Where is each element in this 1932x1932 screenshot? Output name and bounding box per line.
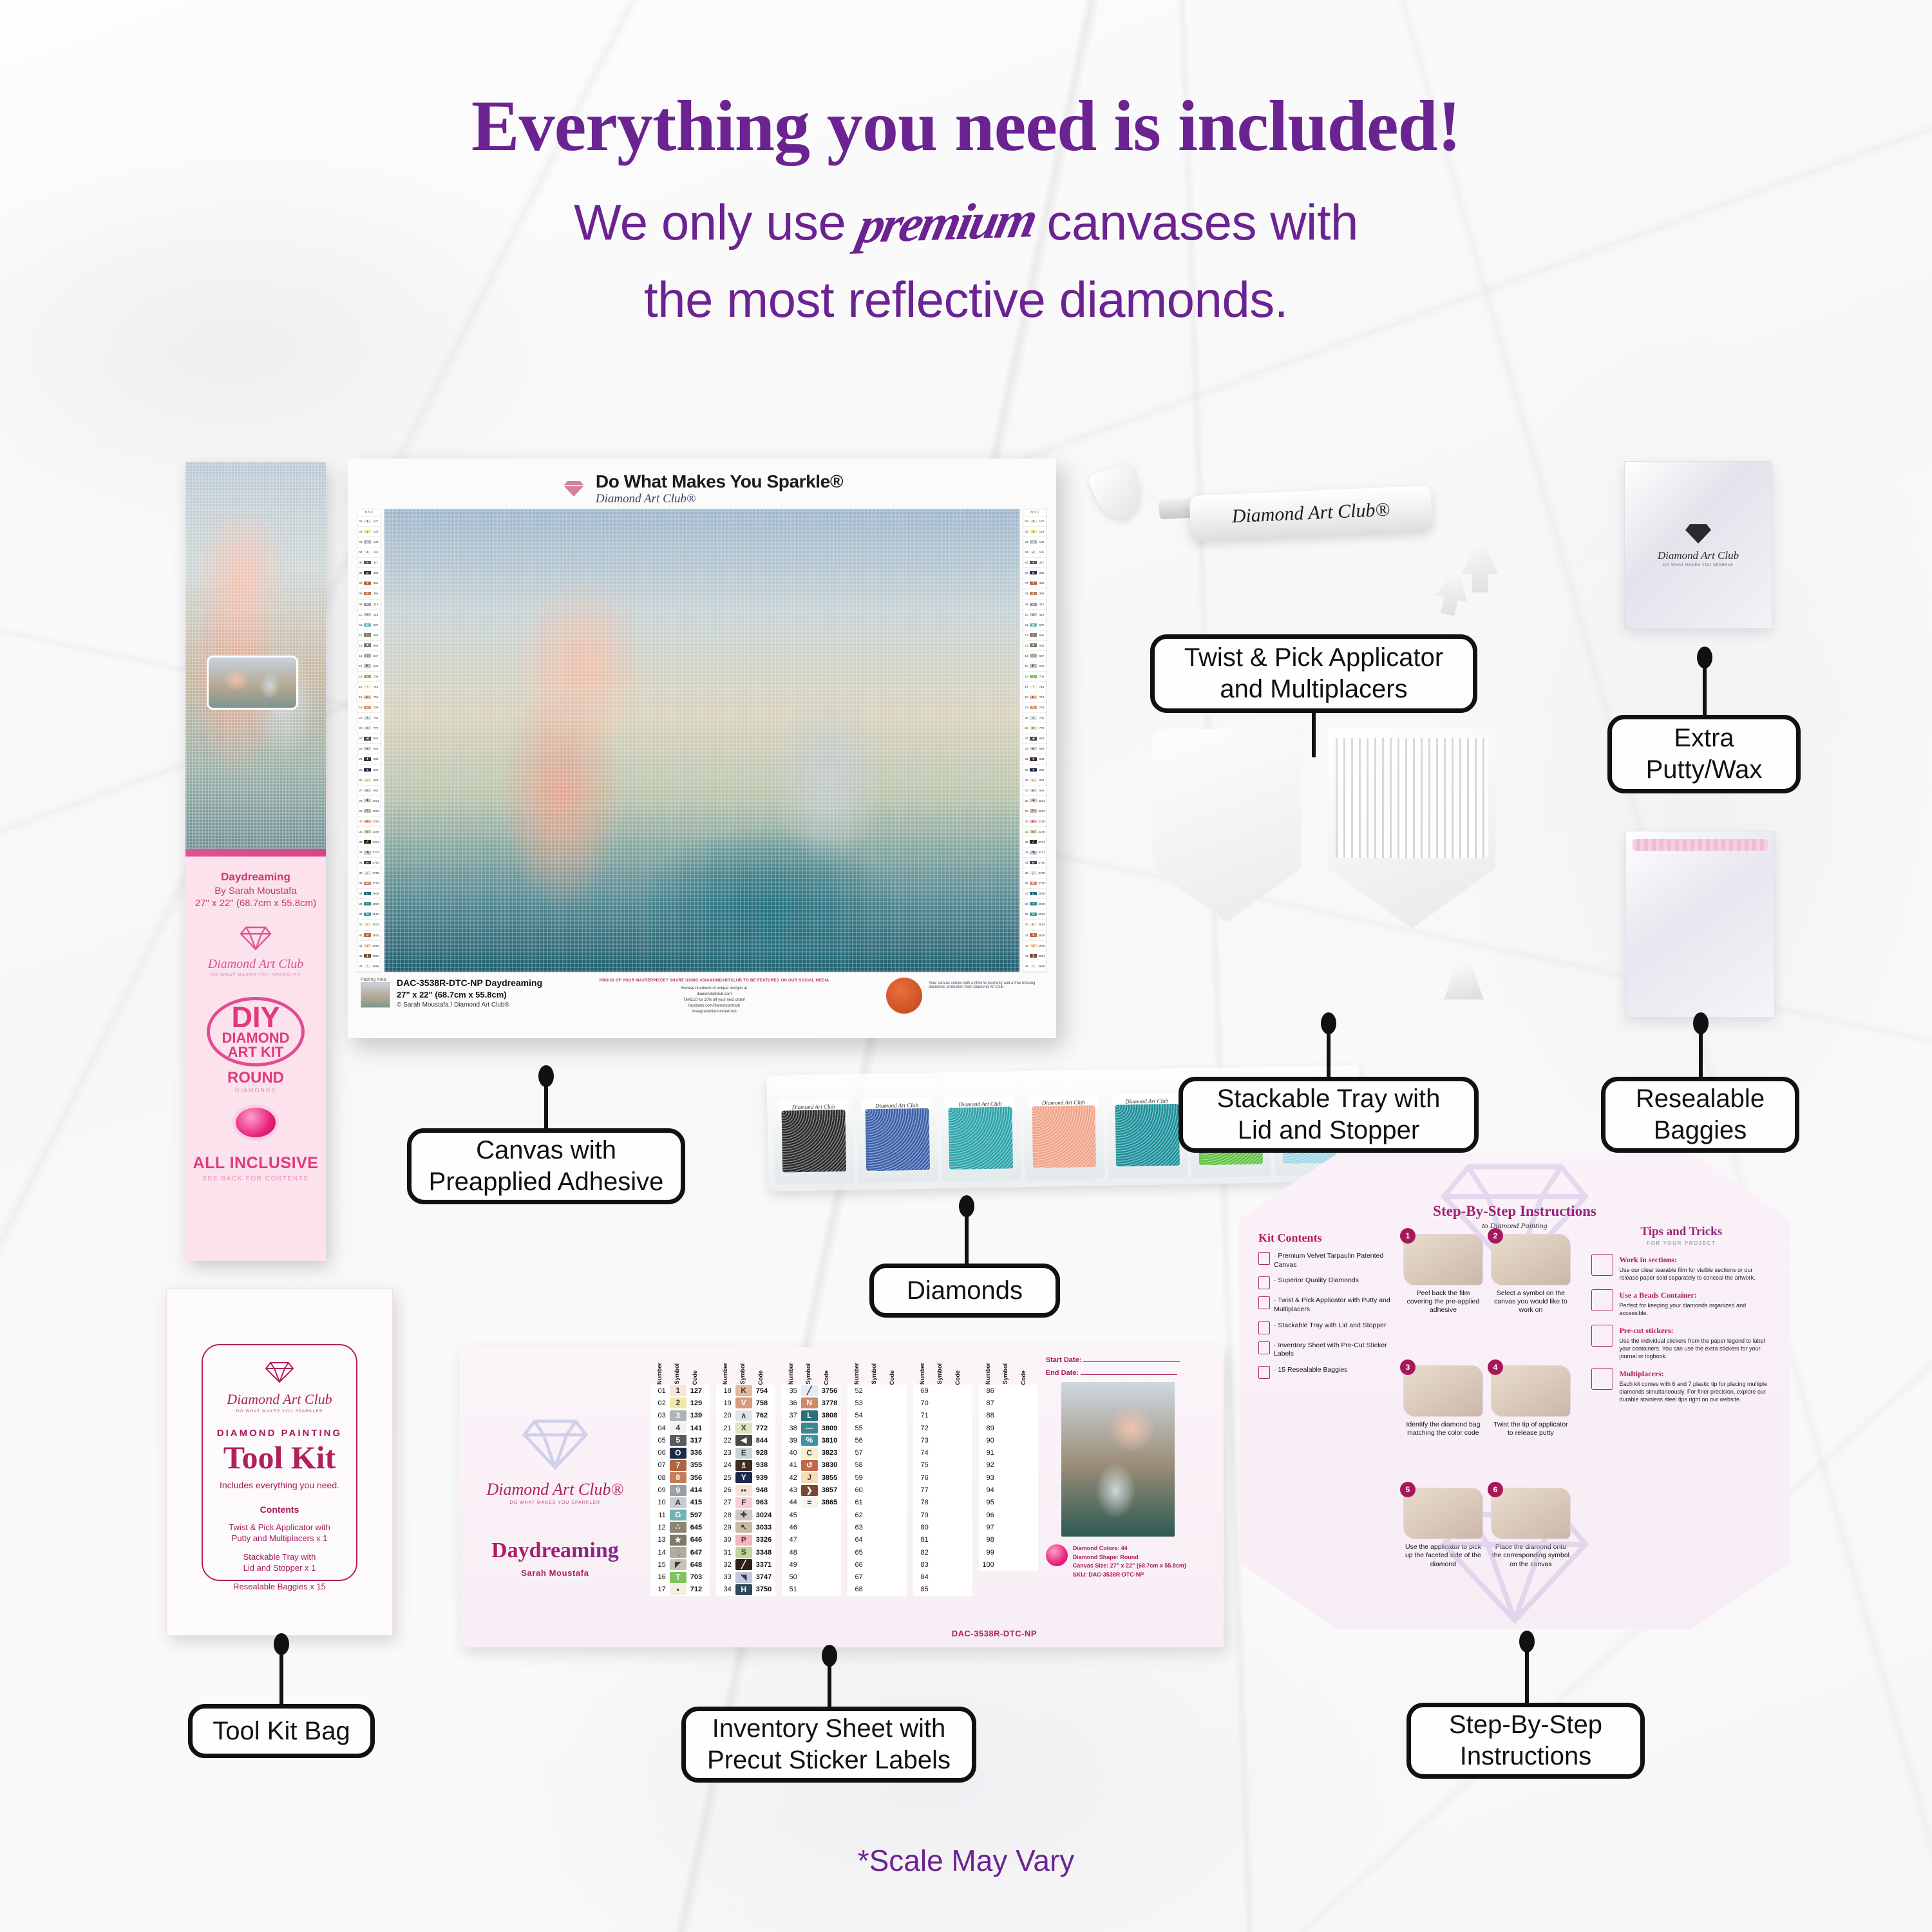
legend-row: 022129 (1023, 527, 1046, 537)
legend-row: 06O336 (1023, 568, 1046, 578)
instruction-step: 4Twist the tip of applicator to release … (1491, 1365, 1571, 1482)
legend-row: 39%3810 (357, 909, 381, 920)
instruction-step: 3Identify the diamond bag matching the c… (1403, 1365, 1483, 1482)
inventory-color-tables: NumberSymbolCode011127022129033139044141… (650, 1347, 1042, 1647)
legend-row: 077355 (357, 578, 381, 589)
canvas-facebook[interactable]: facebook.com/diamondartclub (549, 1004, 880, 1008)
callout-tray: Stackable Tray with Lid and Stopper (1179, 1077, 1479, 1153)
inventory-row: 055317 (650, 1434, 710, 1446)
inventory-row: 63 (848, 1521, 907, 1533)
leader-line-toolkit (279, 1637, 283, 1708)
diamond-beads (949, 1106, 1013, 1170)
legend-row: 13★646 (357, 641, 381, 651)
diamond-bag: Diamond Art Club (1023, 1076, 1104, 1180)
inventory-row: 90 (979, 1434, 1038, 1446)
diy-box-artwork (185, 462, 326, 849)
legend-row: 35╱3756 (357, 868, 381, 878)
diamond-beads (1032, 1105, 1096, 1168)
callout-baggies-label: Resealable Baggies (1636, 1083, 1765, 1146)
diy-box-artist: By Sarah Moustafa (185, 885, 326, 896)
diy-box-brand-tagline: DO WHAT MAKES YOU SPARKLE® (185, 973, 326, 978)
kit-contents-column: Kit Contents · Premium Velvet Tarpaulin … (1258, 1170, 1394, 1613)
legend-row: 22◀844 (1023, 734, 1046, 744)
kit-item-label: · Superior Quality Diamonds (1274, 1276, 1359, 1289)
callout-applicator: Twist & Pick Applicator and Multiplacers (1150, 634, 1477, 713)
inventory-row: 53 (848, 1397, 907, 1409)
inventory-row: 11G597 (650, 1509, 710, 1521)
inventory-row: 49 (782, 1558, 841, 1571)
canvas-footer-thumbnail (361, 982, 390, 1008)
legend-row: 42J3855 (1023, 941, 1046, 951)
callout-diamonds-label: Diamonds (907, 1275, 1023, 1307)
legend-header: N S C (357, 509, 381, 516)
tip-title: Multiplacers: (1619, 1369, 1663, 1378)
inventory-row: 28✚3024 (716, 1509, 775, 1521)
diy-box-size: 27" x 22" (68.7cm x 55.8cm) (185, 898, 326, 909)
applicator-brand-label: Diamond Art Club® (1231, 499, 1390, 528)
start-date-field[interactable] (1083, 1361, 1180, 1362)
legend-row: 033139 (1023, 537, 1046, 547)
legend-row: 044141 (357, 547, 381, 558)
inventory-row: 95 (979, 1497, 1038, 1509)
inventory-row: 50 (782, 1571, 841, 1583)
inventory-row: 59 (848, 1472, 907, 1484)
instruction-step: 6Place the diamond onto the correspondin… (1491, 1488, 1571, 1613)
tool-kit-panel: Diamond Art Club DO WHAT MAKES YOU SPARK… (202, 1344, 357, 1581)
putty-bag-brand: Diamond Art Club (1658, 549, 1739, 562)
kit-content-item: · Superior Quality Diamonds (1258, 1276, 1394, 1289)
legend-row: 15◤648 (357, 661, 381, 672)
diamond-beads (782, 1110, 846, 1173)
step-number: 6 (1488, 1482, 1503, 1497)
legend-row: 099414 (357, 600, 381, 610)
leader-dot (959, 1195, 974, 1217)
legend-row: 22◀844 (357, 734, 381, 744)
inventory-row: 44=3865 (782, 1497, 841, 1509)
legend-row: 28✚3024 (357, 796, 381, 806)
inventory-row: 40C3823 (782, 1446, 841, 1459)
canvas-body: N S C 01112702212903313904414105531706O3… (357, 509, 1047, 972)
leader-line-tray (1327, 1016, 1331, 1081)
legend-row: 13★646 (1023, 641, 1046, 651)
canvas-footer-text: DAC-3538R-DTC-NP Daydreaming 27" x 22" (… (397, 978, 542, 1032)
inventory-row: 17▪712 (650, 1584, 710, 1596)
tip-body: Each kit comes with 6 and 7 plastic tip … (1619, 1380, 1771, 1403)
legend-row: 29↖3033 (1023, 806, 1046, 817)
leader-dot (1519, 1631, 1535, 1653)
leader-line-steps (1525, 1634, 1529, 1705)
instruction-step: 5Use the applicator to pick up the facet… (1403, 1488, 1483, 1613)
tool-kit-subtitle: Includes everything you need. (203, 1480, 356, 1490)
step-caption: Twist the tip of applicator to release p… (1491, 1421, 1571, 1437)
inventory-row: 06O336 (650, 1446, 710, 1459)
inventory-design-name: Daydreaming (491, 1539, 619, 1563)
inventory-column-header: NumberSymbolCode (650, 1358, 710, 1385)
legend-rows: 01112702212903313904414105531706O3360773… (1023, 516, 1046, 972)
diamond-icon (1681, 522, 1715, 545)
leader-line-putty (1703, 650, 1707, 723)
legend-row: 19V758 (357, 703, 381, 713)
inventory-column-header: NumberSymbolCode (848, 1358, 907, 1385)
diy-box-thumbnail (207, 656, 298, 710)
callout-canvas-label: Canvas with Preapplied Adhesive (429, 1135, 664, 1198)
inventory-row: 022129 (650, 1397, 710, 1409)
step-photo: 5 (1403, 1488, 1483, 1539)
inventory-column-rows: 5253545556575859606162636465666768 (848, 1385, 907, 1596)
inventory-row: 61 (848, 1497, 907, 1509)
diamond-beads (865, 1108, 929, 1171)
legend-row: 33◥3747 (357, 848, 381, 858)
inventory-column-rows: 35╱375636N377837L380838—380939%381040C38… (782, 1385, 841, 1596)
legend-row: 099414 (1023, 600, 1046, 610)
legend-row: 10A415 (357, 610, 381, 620)
inventory-row: 85 (913, 1584, 972, 1596)
inventory-row: 99 (979, 1546, 1038, 1558)
inventory-row: 37L3808 (782, 1410, 841, 1422)
canvas-guarantee-text: Your canvas comes with a lifetime warran… (929, 978, 1045, 1032)
inventory-row: 27F963 (716, 1497, 775, 1509)
inventory-row: 25Y939 (716, 1472, 775, 1484)
legend-row: 17▪712 (1023, 682, 1046, 692)
inventory-row: 72 (913, 1422, 972, 1434)
inventory-column: NumberSymbolCode525354555657585960616263… (848, 1358, 907, 1641)
inventory-row: 30P3326 (716, 1534, 775, 1546)
legend-row: 044141 (1023, 547, 1046, 558)
tip-title: Use a Beads Container: (1619, 1291, 1696, 1300)
legend-row: 30P3326 (357, 817, 381, 827)
kit-content-item: · Twist & Pick Applicator with Putty and… (1258, 1296, 1394, 1314)
leader-dot (274, 1633, 289, 1655)
steps-grid: 1Peel back the film covering the pre-app… (1403, 1170, 1583, 1613)
leader-line-diamonds (965, 1199, 969, 1267)
diy-box-lower-panel: Daydreaming By Sarah Moustafa 27" x 22" … (185, 857, 326, 1261)
canvas-footer: Pasting Area DAC-3538R-DTC-NP Daydreamin… (357, 972, 1047, 1032)
legend-row: 21X772 (357, 723, 381, 734)
legend-row: 16T703 (1023, 672, 1046, 682)
inventory-column-header: NumberSymbolCode (716, 1358, 775, 1385)
legend-row: 35╱3756 (1023, 868, 1046, 878)
inventory-row: 23E928 (716, 1446, 775, 1459)
tool-kit-content-item: Stackable Tray with Lid and Stopper x 1 (203, 1552, 356, 1574)
canvas-browse-url[interactable]: diamondartclub.com (549, 992, 880, 996)
inventory-row: 20∧762 (716, 1410, 775, 1422)
legend-row: 42J3855 (357, 941, 381, 951)
tool-kit-contents-list: Twist & Pick Applicator with Putty and M… (203, 1522, 356, 1592)
inventory-artist: Sarah Moustafa (521, 1568, 589, 1578)
inventory-meta-item: Diamond Shape: Round (1073, 1553, 1186, 1562)
callout-steps-label: Step-By-Step Instructions (1449, 1709, 1602, 1772)
leader-line-inventory (828, 1649, 831, 1713)
inventory-row: 31S3348 (716, 1546, 775, 1558)
inventory-row: 97 (979, 1521, 1038, 1533)
legend-row: 088356 (1023, 589, 1046, 599)
legend-row: 41↺3830 (1023, 931, 1046, 941)
legend-row: 40C3823 (357, 920, 381, 930)
tool-kit-eyebrow: DIAMOND PAINTING (203, 1428, 356, 1439)
legend-row: 37L3808 (357, 889, 381, 899)
inventory-row: 67 (848, 1571, 907, 1583)
tips-subheader: FOR YOUR PROJECT (1591, 1240, 1771, 1246)
legend-row: 18K754 (357, 692, 381, 703)
inventory-row: 46 (782, 1521, 841, 1533)
step-number: 3 (1400, 1359, 1416, 1375)
gem-icon (1046, 1544, 1068, 1566)
legend-row: 41↺3830 (357, 931, 381, 941)
tool-kit-title: Tool Kit (203, 1441, 356, 1473)
subheadline-part-a: We only use (574, 194, 846, 251)
inventory-row: 62 (848, 1509, 907, 1521)
inventory-row: 24♗938 (716, 1459, 775, 1472)
legend-row: 10A415 (1023, 610, 1046, 620)
canvas-artwork (384, 509, 1020, 972)
inventory-column: NumberSymbolCode697071727374757677787980… (913, 1358, 972, 1641)
inventory-column: NumberSymbolCode35╱375636N377837L380838—… (782, 1358, 841, 1641)
inventory-row: 21X772 (716, 1422, 775, 1434)
extra-putty-bag: Diamond Art Club DO WHAT MAKES YOU SPARK… (1624, 461, 1772, 629)
gem-icon (236, 1108, 276, 1137)
step-photo: 6 (1491, 1488, 1571, 1539)
callout-baggies: Resealable Baggies (1601, 1077, 1799, 1153)
step-photo: 2 (1491, 1234, 1571, 1285)
inventory-row: 71 (913, 1410, 972, 1422)
inventory-row: 74 (913, 1446, 972, 1459)
legend-row: 30P3326 (1023, 817, 1046, 827)
tip-icon (1591, 1368, 1613, 1390)
page-headline: Everything you need is included! (0, 85, 1932, 168)
inventory-column: NumberSymbolCode868788899091929394959697… (979, 1358, 1038, 1641)
baggie-zip-seal (1633, 839, 1768, 851)
end-date-field[interactable] (1081, 1374, 1177, 1375)
inventory-row: 87 (979, 1397, 1038, 1409)
inventory-column-header: NumberSymbolCode (913, 1358, 972, 1385)
inventory-row: 89 (979, 1422, 1038, 1434)
tip-body: Use our clear tearable film for visible … (1619, 1266, 1771, 1282)
inventory-row: 14⚓647 (650, 1546, 710, 1558)
pasting-area-label: Pasting Area (361, 978, 390, 982)
legend-row: 06O336 (357, 568, 381, 578)
legend-row: 12∴645 (357, 630, 381, 641)
inventory-row: 93 (979, 1472, 1038, 1484)
legend-row: 11G597 (357, 620, 381, 630)
inventory-row: 48 (782, 1546, 841, 1558)
inventory-row: 077355 (650, 1459, 710, 1472)
inventory-column-header: NumberSymbolCode (979, 1358, 1038, 1385)
inventory-meta: Diamond Colors: 44Diamond Shape: RoundCa… (1046, 1544, 1213, 1579)
callout-toolkit: Tool Kit Bag (188, 1704, 375, 1758)
inventory-row: 68 (848, 1584, 907, 1596)
canvas-browse-line: Browse hundreds of unique designs at (549, 987, 880, 990)
tool-kit-content-item: Twist & Pick Applicator with Putty and M… (203, 1522, 356, 1544)
inventory-row: 044141 (650, 1422, 710, 1434)
instructions-title: Step-By-Step Instructions (1239, 1203, 1790, 1220)
diamond-beads (1115, 1104, 1179, 1167)
inventory-row: 099414 (650, 1484, 710, 1496)
inventory-row: 69 (913, 1385, 972, 1397)
inventory-row: 36N3778 (782, 1397, 841, 1409)
diy-all-inclusive: ALL INCLUSIVE (185, 1154, 326, 1173)
inventory-row: 011127 (650, 1385, 710, 1397)
legend-row: 16T703 (357, 672, 381, 682)
canvas-copyright: © Sarah Moustafa / Diamond Art Club® (397, 1001, 542, 1009)
legend-row: 44=3865 (357, 961, 381, 972)
canvas-tagline: Do What Makes You Sparkle® (596, 471, 843, 492)
tip-item: Use a Beads Container:Perfect for keepin… (1591, 1289, 1771, 1317)
inventory-row: 81 (913, 1534, 972, 1546)
guarantee-seal-icon (886, 978, 922, 1014)
canvas-legend-left: N S C 01112702212903313904414105531706O3… (357, 509, 381, 972)
legend-row: 31S3348 (1023, 827, 1046, 837)
inventory-row: 79 (913, 1509, 972, 1521)
step-photo: 3 (1403, 1365, 1483, 1417)
callout-steps: Step-By-Step Instructions (1406, 1703, 1645, 1779)
resealable-baggie (1625, 831, 1775, 1018)
canvas-legend-right: N S C 01112702212903313904414105531706O3… (1023, 509, 1047, 972)
inventory-dates: Start Date: End Date: (1046, 1356, 1213, 1377)
diamond-bag: Diamond Art Club (773, 1081, 855, 1185)
step-caption: Peel back the film covering the pre-appl… (1403, 1289, 1483, 1314)
callout-diamonds: Diamonds (869, 1264, 1060, 1318)
inventory-row: 65 (848, 1546, 907, 1558)
diy-box-title: Daydreaming (185, 871, 326, 884)
inventory-row: 91 (979, 1446, 1038, 1459)
legend-row: 25Y939 (1023, 765, 1046, 775)
inventory-row: 75 (913, 1459, 972, 1472)
canvas-sku-title: DAC-3538R-DTC-NP Daydreaming (397, 978, 542, 988)
legend-row: 29↖3033 (357, 806, 381, 817)
canvas-promo: PROUD OF YOUR MASTERPIECE? SHARE USING #… (549, 978, 880, 1032)
kit-item-label: · 15 Resealable Baggies (1274, 1366, 1347, 1379)
kit-content-item: · 15 Resealable Baggies (1258, 1366, 1394, 1379)
kit-content-item: · Inventory Sheet with Pre-Cut Sticker L… (1258, 1341, 1394, 1359)
inventory-column-header: NumberSymbolCode (782, 1358, 841, 1385)
kit-item-icon (1258, 1341, 1270, 1354)
legend-row: 26••948 (1023, 775, 1046, 786)
step-number: 4 (1488, 1359, 1503, 1375)
inventory-row: 52 (848, 1385, 907, 1397)
callout-applicator-label: Twist & Pick Applicator and Multiplacers (1184, 642, 1443, 705)
legend-row: 31S3348 (357, 827, 381, 837)
inventory-row: 32╱3371 (716, 1558, 775, 1571)
diy-label: DIY (231, 1004, 279, 1032)
step-caption: Identify the diamond bag matching the co… (1403, 1421, 1483, 1437)
legend-row: 43❯3857 (1023, 951, 1046, 961)
legend-row: 37L3808 (1023, 889, 1046, 899)
inventory-row: 77 (913, 1484, 972, 1496)
inventory-row: 98 (979, 1534, 1038, 1546)
inventory-column-rows: 6970717273747576777879808182838485 (913, 1385, 972, 1596)
legend-row: 32╱3371 (357, 837, 381, 848)
subheadline-line-2: the most reflective diamonds. (0, 270, 1932, 329)
callout-tray-label: Stackable Tray with Lid and Stopper (1217, 1083, 1441, 1146)
inventory-column-rows: 8687888990919293949596979899100 (979, 1385, 1038, 1571)
inventory-row: 29↖3033 (716, 1521, 775, 1533)
callout-canvas: Canvas with Preapplied Adhesive (407, 1128, 685, 1204)
diamond-bag: Diamond Art Club (940, 1077, 1021, 1182)
diamond-icon (514, 1417, 596, 1471)
diamond-bag: Diamond Art Club (1106, 1075, 1188, 1179)
kit-item-label: · Stackable Tray with Lid and Stopper (1274, 1321, 1387, 1334)
legend-row: 33◥3747 (1023, 848, 1046, 858)
putty-bag-tagline: DO WHAT MAKES YOU SPARKLE (1663, 563, 1734, 567)
inventory-row: 033139 (650, 1410, 710, 1422)
diy-see-back: SEE BACK FOR CONTENTS (185, 1175, 326, 1182)
kit-content-item: · Premium Velvet Tarpaulin Patented Canv… (1258, 1252, 1394, 1269)
canvas-promo-line: PROUD OF YOUR MASTERPIECE? SHARE USING #… (549, 979, 880, 983)
kit-item-icon (1258, 1366, 1270, 1379)
leader-line-canvas (544, 1069, 548, 1128)
inventory-row: 100 (979, 1558, 1038, 1571)
inventory-row: 96 (979, 1509, 1038, 1521)
legend-row: 21X772 (1023, 723, 1046, 734)
legend-row: 24♗938 (1023, 754, 1046, 764)
canvas-instagram[interactable]: instagram/diamondartclub (549, 1010, 880, 1014)
inventory-sku-footer: DAC-3538R-DTC-NP (952, 1629, 1037, 1638)
inventory-left-panel: Diamond Art Club® DO WHAT MAKES YOU SPAR… (460, 1347, 650, 1647)
tip-item: Multiplacers:Each kit comes with 6 and 7… (1591, 1368, 1771, 1403)
leader-dot (1697, 647, 1712, 668)
diamond-icon (261, 1361, 298, 1384)
kit-item-icon (1258, 1276, 1270, 1289)
step-number: 5 (1400, 1482, 1416, 1497)
legend-row: 077355 (1023, 578, 1046, 589)
legend-row: 43❯3857 (357, 951, 381, 961)
instruction-step: 1Peel back the film covering the pre-app… (1403, 1234, 1483, 1359)
legend-row: 36N3778 (1023, 878, 1046, 889)
legend-row: 39%3810 (1023, 909, 1046, 920)
premium-word: premium (853, 191, 1040, 255)
legend-row: 26••948 (357, 775, 381, 786)
legend-row: 23E928 (357, 744, 381, 754)
inventory-row: 51 (782, 1584, 841, 1596)
inventory-artwork-thumbnail (1061, 1382, 1175, 1537)
legend-header: N S C (1023, 509, 1046, 516)
kit-item-label: · Premium Velvet Tarpaulin Patented Canv… (1274, 1252, 1394, 1269)
tip-icon (1591, 1325, 1613, 1347)
legend-row: 25Y939 (357, 765, 381, 775)
inventory-meta-item: SKU: DAC-3538R-DTC-NP (1073, 1571, 1186, 1580)
step-photo: 4 (1491, 1365, 1571, 1417)
leader-line-baggies (1699, 1016, 1703, 1081)
legend-row: 27F963 (1023, 786, 1046, 796)
inventory-column: NumberSymbolCode011127022129033139044141… (650, 1358, 710, 1641)
inventory-row: 64 (848, 1534, 907, 1546)
inventory-row: 39%3810 (782, 1434, 841, 1446)
tip-title: Pre-cut stickers: (1619, 1326, 1673, 1335)
step-by-step-instructions-sheet: Step-By-Step Instructions to Diamond Pai… (1239, 1153, 1790, 1629)
tips-list: Work in sections:Use our clear tearable … (1591, 1254, 1771, 1403)
instructions-subtitle: to Diamond Painting (1239, 1221, 1790, 1231)
legend-row: 022129 (357, 527, 381, 537)
tool-kit-content-item: Resealable Baggies x 15 (203, 1582, 356, 1593)
end-date-label: End Date: (1046, 1369, 1079, 1377)
inventory-row: 47 (782, 1534, 841, 1546)
inventory-row: 45 (782, 1509, 841, 1521)
legend-row: 24♗938 (357, 754, 381, 764)
step-caption: Place the diamond onto the corresponding… (1491, 1543, 1571, 1568)
canvas-promo-code: TAKE10 for 10% off your next order! (549, 998, 880, 1002)
inventory-row: 83 (913, 1558, 972, 1571)
legend-row: 40C3823 (1023, 920, 1046, 930)
inventory-row: 54 (848, 1410, 907, 1422)
inventory-sheet: Diamond Art Club® DO WHAT MAKES YOU SPAR… (460, 1347, 1224, 1647)
inventory-row: 34H3750 (716, 1584, 775, 1596)
inventory-row: 42J3855 (782, 1472, 841, 1484)
diy-kit-label: DIAMOND ART KIT (222, 1031, 289, 1059)
legend-row: 44=3865 (1023, 961, 1046, 972)
inventory-row: 088356 (650, 1472, 710, 1484)
tip-icon (1591, 1254, 1613, 1276)
step-photo: 1 (1403, 1234, 1483, 1285)
